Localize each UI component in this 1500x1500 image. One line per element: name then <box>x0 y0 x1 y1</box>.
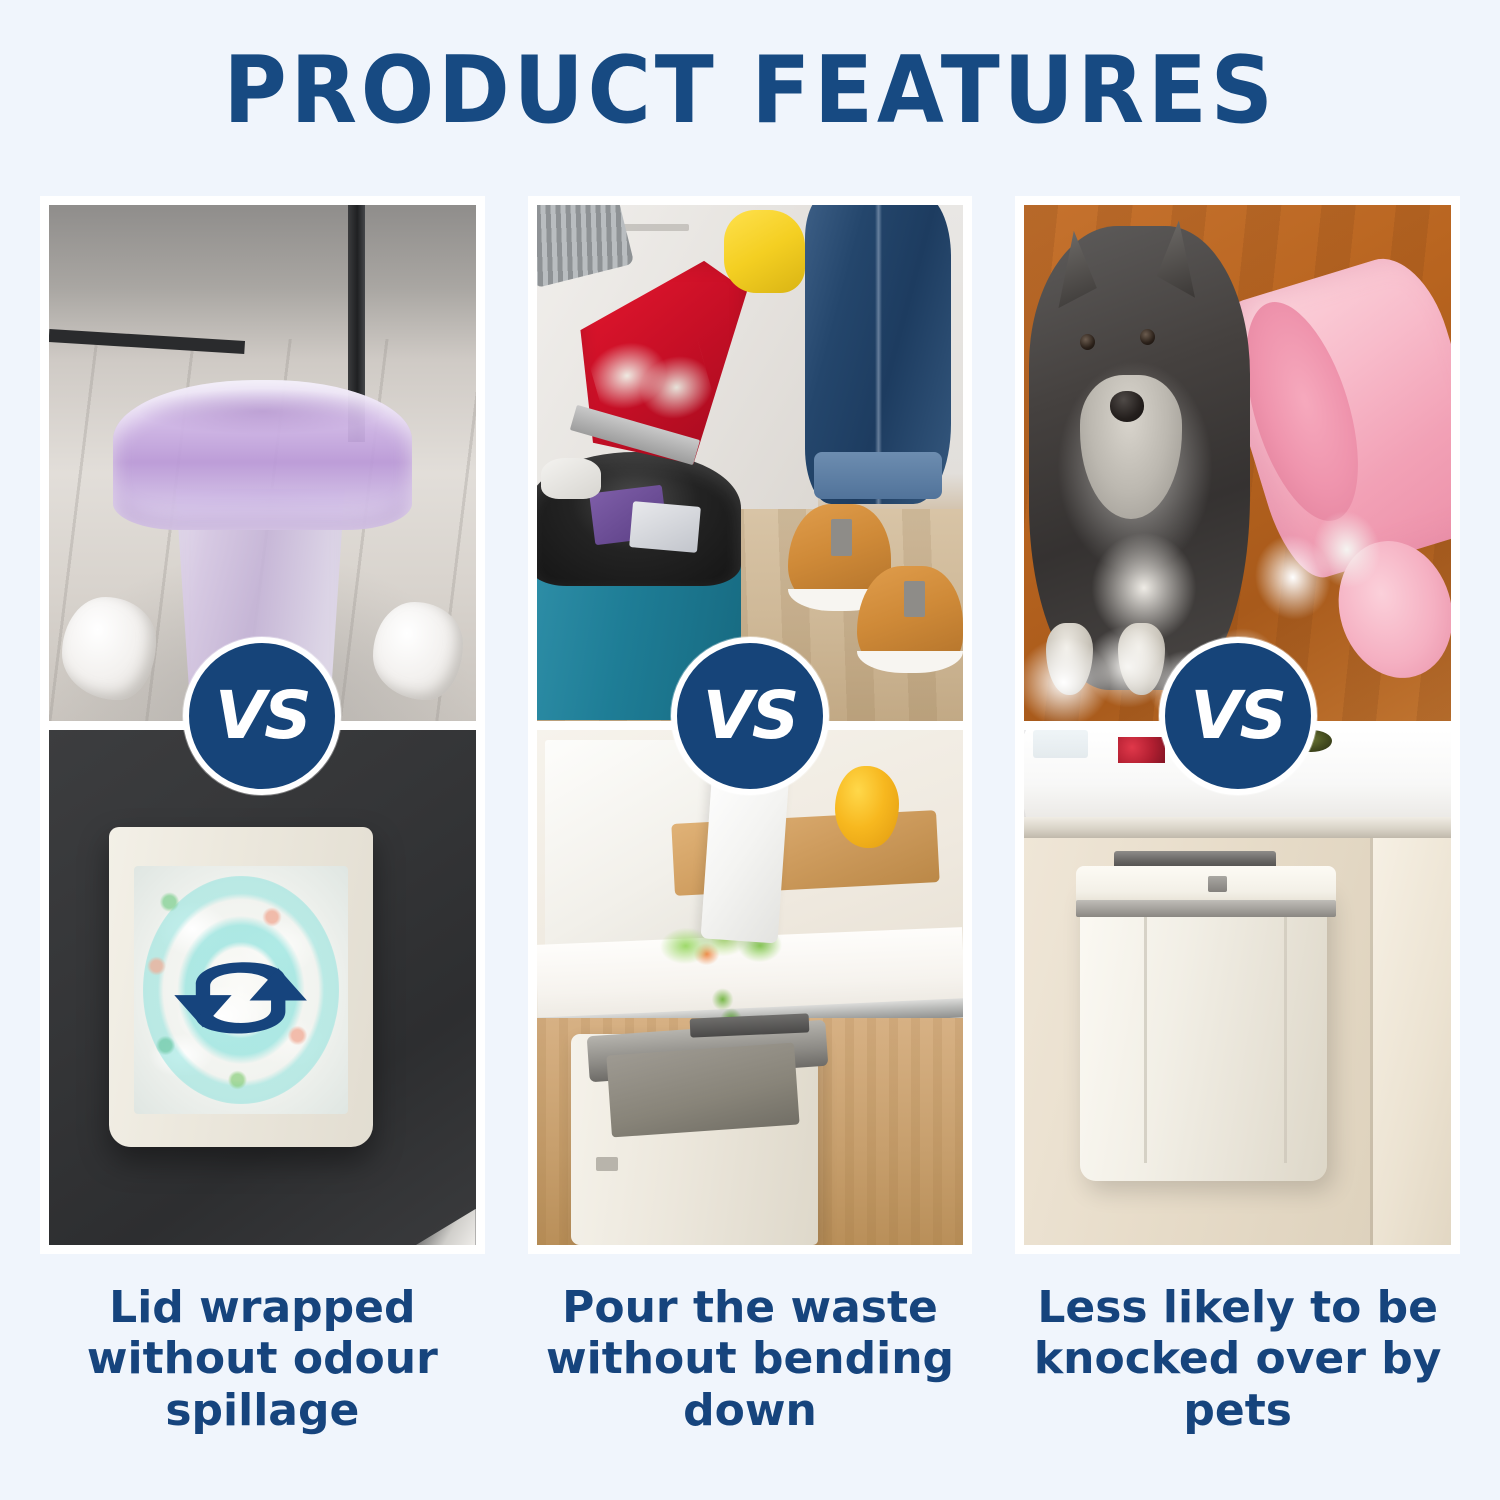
comparison-panel-no-bending: VS <box>528 196 973 1254</box>
vs-badge-label: VS <box>215 683 310 749</box>
vs-badge: VS <box>671 637 829 795</box>
germ-icon <box>262 906 281 928</box>
vs-badge-label: VS <box>703 683 798 749</box>
yellow-glove <box>724 210 805 292</box>
trash-item-overflow <box>541 458 601 499</box>
comparison-panel-pet-proof: VS <box>1015 196 1460 1254</box>
hanging-bin-body <box>1080 887 1327 1181</box>
caption-row: Lid wrapped without odour spillage Pour … <box>40 1282 1460 1436</box>
circulating-arrows-icon <box>151 936 330 1060</box>
caption-pet-proof: Less likely to be knocked over by pets <box>1015 1282 1460 1436</box>
shoe-strap-left <box>831 519 852 555</box>
purple-bag-liner <box>113 380 412 529</box>
after-photo-sealed-hanging-bin-odour-locked <box>49 730 476 1246</box>
crumpled-paper-left <box>62 597 156 700</box>
after-photo-cabinet-mounted-bin <box>1024 730 1451 1246</box>
vs-badge: VS <box>1159 637 1317 795</box>
caption-odour-seal: Lid wrapped without odour spillage <box>40 1282 485 1436</box>
bin-interior <box>607 1043 800 1138</box>
bin-handle-slot <box>596 1157 617 1170</box>
page-title: PRODUCT FEATURES <box>53 42 1448 140</box>
after-photo-counter-edge-hanging-bin <box>537 730 964 1246</box>
shoe-strap-right <box>904 581 925 617</box>
jeans-cuff <box>814 452 942 498</box>
crumpled-paper-right <box>373 602 463 700</box>
vs-badge: VS <box>183 637 341 795</box>
counter-edge <box>1024 817 1451 839</box>
trash-item-white <box>629 501 701 553</box>
bin-lid <box>1076 866 1336 902</box>
bin-seal-band <box>1076 900 1336 918</box>
bin-latch <box>1208 876 1227 892</box>
cherries <box>1118 737 1165 763</box>
comparison-panel-grid: VS <box>40 196 1460 1254</box>
vs-badge-label: VS <box>1190 683 1285 749</box>
cabinet-door-right <box>1370 838 1451 1245</box>
glass-jar <box>1033 730 1088 759</box>
dog-eye-right <box>1140 329 1155 345</box>
surface-highlight <box>416 1209 476 1245</box>
yellow-pepper <box>835 766 899 848</box>
caption-no-bending: Pour the waste without bending down <box>528 1282 973 1436</box>
dog-nose <box>1110 391 1144 422</box>
germ-icon <box>160 891 179 913</box>
comparison-panel-odour-seal: VS <box>40 196 485 1254</box>
